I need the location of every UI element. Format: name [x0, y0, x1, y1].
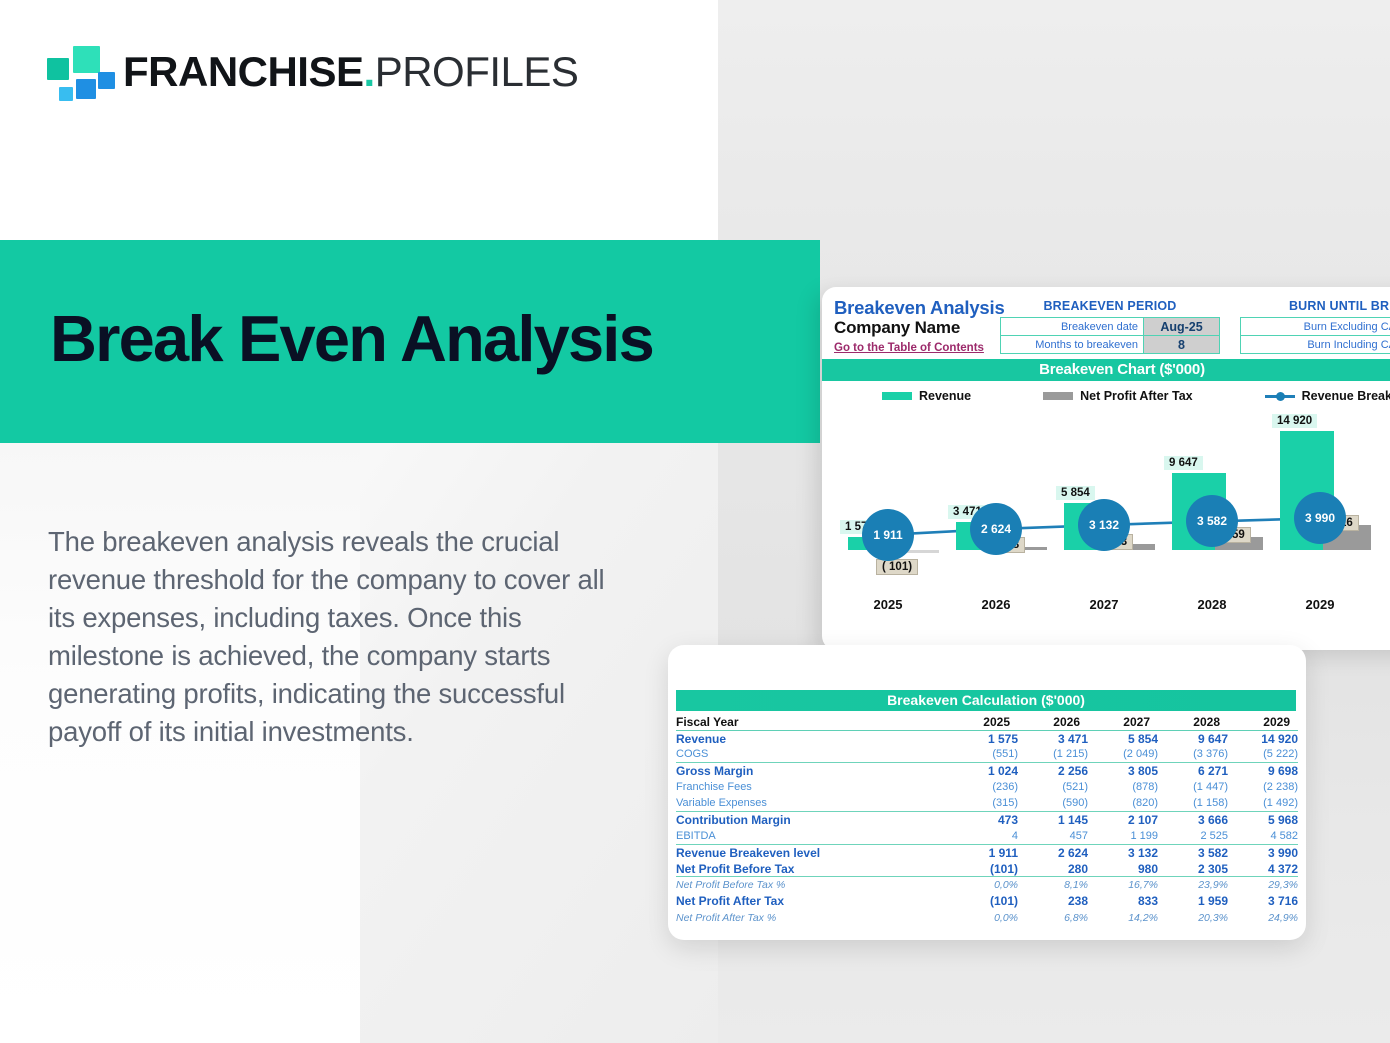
- table-cell: 0,0%: [948, 910, 1018, 926]
- breakeven-level-marker[interactable]: 3 990: [1294, 492, 1346, 544]
- table-cell: 16,7%: [1088, 877, 1158, 893]
- table-cell: (101): [948, 893, 1018, 909]
- table-cell: 5 854: [1088, 730, 1158, 746]
- table-cell: 5 968: [1228, 812, 1298, 828]
- table-cell: 833: [1088, 893, 1158, 909]
- table-row-label: Franchise Fees: [676, 779, 948, 795]
- table-cell: (1 492): [1228, 795, 1298, 811]
- table-row-label: COGS: [676, 747, 948, 763]
- chart-x-axis: 20252026202720282029: [822, 584, 1390, 618]
- burn-until-breakeven-block: BURN UNTIL BREAKEVEN Burn Excluding CAPE…: [1240, 299, 1390, 354]
- bar-label-revenue: 9 647: [1164, 456, 1203, 470]
- brand-name-bold: FRANCHISE: [123, 48, 364, 95]
- table-row: Net Profit Before Tax(101)2809802 3054 3…: [676, 861, 1298, 877]
- bar-label-revenue: 5 854: [1056, 486, 1095, 500]
- table-cell: 3 582: [1158, 844, 1228, 860]
- table-cell: 2 107: [1088, 812, 1158, 828]
- table-header-row: Fiscal Year 2025 2026 2027 2028 2029: [676, 714, 1298, 730]
- table-cell: 1 199: [1088, 828, 1158, 844]
- table-cell: (236): [948, 779, 1018, 795]
- breakeven-date-label: Breakeven date: [1001, 318, 1144, 336]
- table-cell: 3 666: [1158, 812, 1228, 828]
- table-cell: (820): [1088, 795, 1158, 811]
- table-cell: 4: [948, 828, 1018, 844]
- breakeven-period-heading: BREAKEVEN PERIOD: [1000, 299, 1220, 313]
- x-axis-tick-label: 2028: [1158, 597, 1266, 612]
- months-to-breakeven-value: 8: [1144, 336, 1220, 354]
- table-cell: 3 990: [1228, 844, 1298, 860]
- breakeven-chart-card: Breakeven Analysis Company Name Go to th…: [822, 287, 1390, 650]
- chart-card-header: Breakeven Analysis Company Name Go to th…: [822, 287, 1390, 359]
- table-cell: 1 145: [1018, 812, 1088, 828]
- table-row: Gross Margin1 0242 2563 8056 2719 698: [676, 763, 1298, 779]
- brand-wordmark: FRANCHISE.PROFILES: [123, 51, 578, 93]
- table-cell: 457: [1018, 828, 1088, 844]
- brand-logo[interactable]: FRANCHISE.PROFILES: [47, 44, 578, 100]
- table-row: Net Profit After Tax %0,0%6,8%14,2%20,3%…: [676, 910, 1298, 926]
- table-header-year: 2028: [1158, 714, 1228, 730]
- table-row: Net Profit After Tax(101)2388331 9593 71…: [676, 893, 1298, 909]
- table-row-label: EBITDA: [676, 828, 948, 844]
- chart-legend: Revenue Net Profit After Tax Revenue Bre…: [822, 381, 1390, 411]
- table-cell: 980: [1088, 861, 1158, 877]
- table-cell: 1 024: [948, 763, 1018, 779]
- breakeven-date-value: Aug-25: [1144, 318, 1220, 336]
- burn-until-breakeven-heading: BURN UNTIL BREAKEVEN: [1240, 299, 1390, 313]
- table-row-label: Revenue Breakeven level: [676, 844, 948, 860]
- table-cell: 29,3%: [1228, 877, 1298, 893]
- legend-line-marker-icon: [1265, 392, 1295, 400]
- table-cell: 9 698: [1228, 763, 1298, 779]
- table-header-year: 2029: [1228, 714, 1298, 730]
- table-cell: 6 271: [1158, 763, 1228, 779]
- breakeven-period-block: BREAKEVEN PERIOD Breakeven date Aug-25 M…: [1000, 299, 1220, 354]
- burn-excluding-capex-label: Burn Excluding CAPEX: [1241, 318, 1390, 336]
- table-cell: 3 132: [1088, 844, 1158, 860]
- table-row: Revenue1 5753 4715 8549 64714 920: [676, 730, 1298, 746]
- table-row: COGS(551)(1 215)(2 049)(3 376)(5 222): [676, 747, 1298, 763]
- table-cell: 2 256: [1018, 763, 1088, 779]
- legend-label-revenue: Revenue: [919, 389, 971, 403]
- brand-name-dot: .: [364, 48, 375, 95]
- x-axis-tick-label: 2026: [942, 597, 1050, 612]
- bar-label-revenue: 14 920: [1272, 414, 1317, 428]
- breakeven-level-marker[interactable]: 1 911: [862, 509, 914, 561]
- legend-item-revenue-breakeven-level[interactable]: Revenue Breakeven level: [1265, 389, 1390, 403]
- table-cell: (551): [948, 747, 1018, 763]
- table-cell: 3 805: [1088, 763, 1158, 779]
- legend-swatch-revenue-icon: [882, 392, 912, 400]
- breakeven-level-marker[interactable]: 2 624: [970, 503, 1022, 555]
- page-title: Break Even Analysis: [50, 306, 710, 371]
- table-cell: 14,2%: [1088, 910, 1158, 926]
- burn-including-capex-label: Burn Including CAPEX: [1241, 336, 1390, 354]
- brand-name-thin: PROFILES: [375, 48, 579, 95]
- table-row-label: Net Profit Before Tax: [676, 861, 948, 877]
- breakeven-calculation-card: Breakeven Calculation ($'000) Fiscal Yea…: [668, 645, 1306, 940]
- hero-body-text: The breakeven analysis reveals the cruci…: [48, 523, 638, 751]
- table-row: Franchise Fees(236)(521)(878)(1 447)(2 2…: [676, 779, 1298, 795]
- table-cell: 24,9%: [1228, 910, 1298, 926]
- table-cell: (1 215): [1018, 747, 1088, 763]
- table-cell: (2 049): [1088, 747, 1158, 763]
- table-cell: 3 716: [1228, 893, 1298, 909]
- table-row-label: Net Profit After Tax %: [676, 910, 948, 926]
- table-cell: (3 376): [1158, 747, 1228, 763]
- table-band-title: Breakeven Calculation ($'000): [676, 690, 1296, 711]
- table-cell: 4 372: [1228, 861, 1298, 877]
- table-cell: 0,0%: [948, 877, 1018, 893]
- table-row-label: Variable Expenses: [676, 795, 948, 811]
- table-header-year: 2027: [1088, 714, 1158, 730]
- breakeven-calculation-table: Fiscal Year 2025 2026 2027 2028 2029 Rev…: [676, 714, 1298, 926]
- table-cell: (5 222): [1228, 747, 1298, 763]
- table-row: Variable Expenses(315)(590)(820)(1 158)(…: [676, 795, 1298, 811]
- table-row: EBITDA44571 1992 5254 582: [676, 828, 1298, 844]
- table-cell: 8,1%: [1018, 877, 1088, 893]
- table-cell: 2 305: [1158, 861, 1228, 877]
- legend-swatch-npat-icon: [1043, 392, 1073, 400]
- months-to-breakeven-label: Months to breakeven: [1001, 336, 1144, 354]
- table-row-label: Net Profit After Tax: [676, 893, 948, 909]
- logo-squares-icon: [47, 44, 105, 100]
- table-cell: 20,3%: [1158, 910, 1228, 926]
- table-cell: (1 447): [1158, 779, 1228, 795]
- table-cell: 1 959: [1158, 893, 1228, 909]
- table-row-label: Net Profit Before Tax %: [676, 877, 948, 893]
- table-header-year: 2025: [948, 714, 1018, 730]
- table-cell: 23,9%: [1158, 877, 1228, 893]
- breakeven-chart-plot: 1 575( 101)1 9113 4712382 6245 8548333 1…: [822, 413, 1390, 618]
- legend-item-net-profit-after-tax[interactable]: Net Profit After Tax: [1043, 389, 1193, 403]
- table-cell: (878): [1088, 779, 1158, 795]
- table-cell: 280: [1018, 861, 1088, 877]
- table-row-label: Revenue: [676, 730, 948, 746]
- table-cell: 238: [1018, 893, 1088, 909]
- table-cell: 9 647: [1158, 730, 1228, 746]
- table-row: Net Profit Before Tax %0,0%8,1%16,7%23,9…: [676, 877, 1298, 893]
- table-cell: 6,8%: [1018, 910, 1088, 926]
- table-cell: 1 575: [948, 730, 1018, 746]
- table-cell: (2 238): [1228, 779, 1298, 795]
- x-axis-tick-label: 2025: [834, 597, 942, 612]
- table-cell: (590): [1018, 795, 1088, 811]
- table-row: Contribution Margin4731 1452 1073 6665 9…: [676, 812, 1298, 828]
- table-header-year: 2026: [1018, 714, 1088, 730]
- x-axis-tick-label: 2027: [1050, 597, 1158, 612]
- table-cell: 4 582: [1228, 828, 1298, 844]
- table-header-fiscal-year: Fiscal Year: [676, 714, 948, 730]
- x-axis-tick-label: 2029: [1266, 597, 1374, 612]
- table-cell: (101): [948, 861, 1018, 877]
- table-cell: (315): [948, 795, 1018, 811]
- table-cell: (1 158): [1158, 795, 1228, 811]
- legend-label-npat: Net Profit After Tax: [1080, 389, 1193, 403]
- bar-label-net-profit-after-tax: ( 101): [876, 559, 918, 575]
- kpi-row: Burn Including CAPEX: [1241, 336, 1390, 354]
- table-row-label: Gross Margin: [676, 763, 948, 779]
- legend-item-revenue[interactable]: Revenue: [882, 389, 971, 403]
- kpi-row: Months to breakeven 8: [1001, 336, 1220, 354]
- legend-label-breakeven: Revenue Breakeven level: [1302, 389, 1390, 403]
- table-cell: 2 624: [1018, 844, 1088, 860]
- table-cell: 3 471: [1018, 730, 1088, 746]
- table-cell: 473: [948, 812, 1018, 828]
- table-of-contents-link[interactable]: Go to the Table of Contents: [834, 342, 984, 354]
- table-cell: 1 911: [948, 844, 1018, 860]
- kpi-row: Breakeven date Aug-25: [1001, 318, 1220, 336]
- table-cell: 14 920: [1228, 730, 1298, 746]
- kpi-row: Burn Excluding CAPEX: [1241, 318, 1390, 336]
- breakeven-level-marker[interactable]: 3 132: [1078, 499, 1130, 551]
- table-cell: (521): [1018, 779, 1088, 795]
- chart-band-title: Breakeven Chart ($'000): [822, 359, 1390, 381]
- table-cell: 2 525: [1158, 828, 1228, 844]
- table-row-label: Contribution Margin: [676, 812, 948, 828]
- table-row: Revenue Breakeven level1 9112 6243 1323 …: [676, 844, 1298, 860]
